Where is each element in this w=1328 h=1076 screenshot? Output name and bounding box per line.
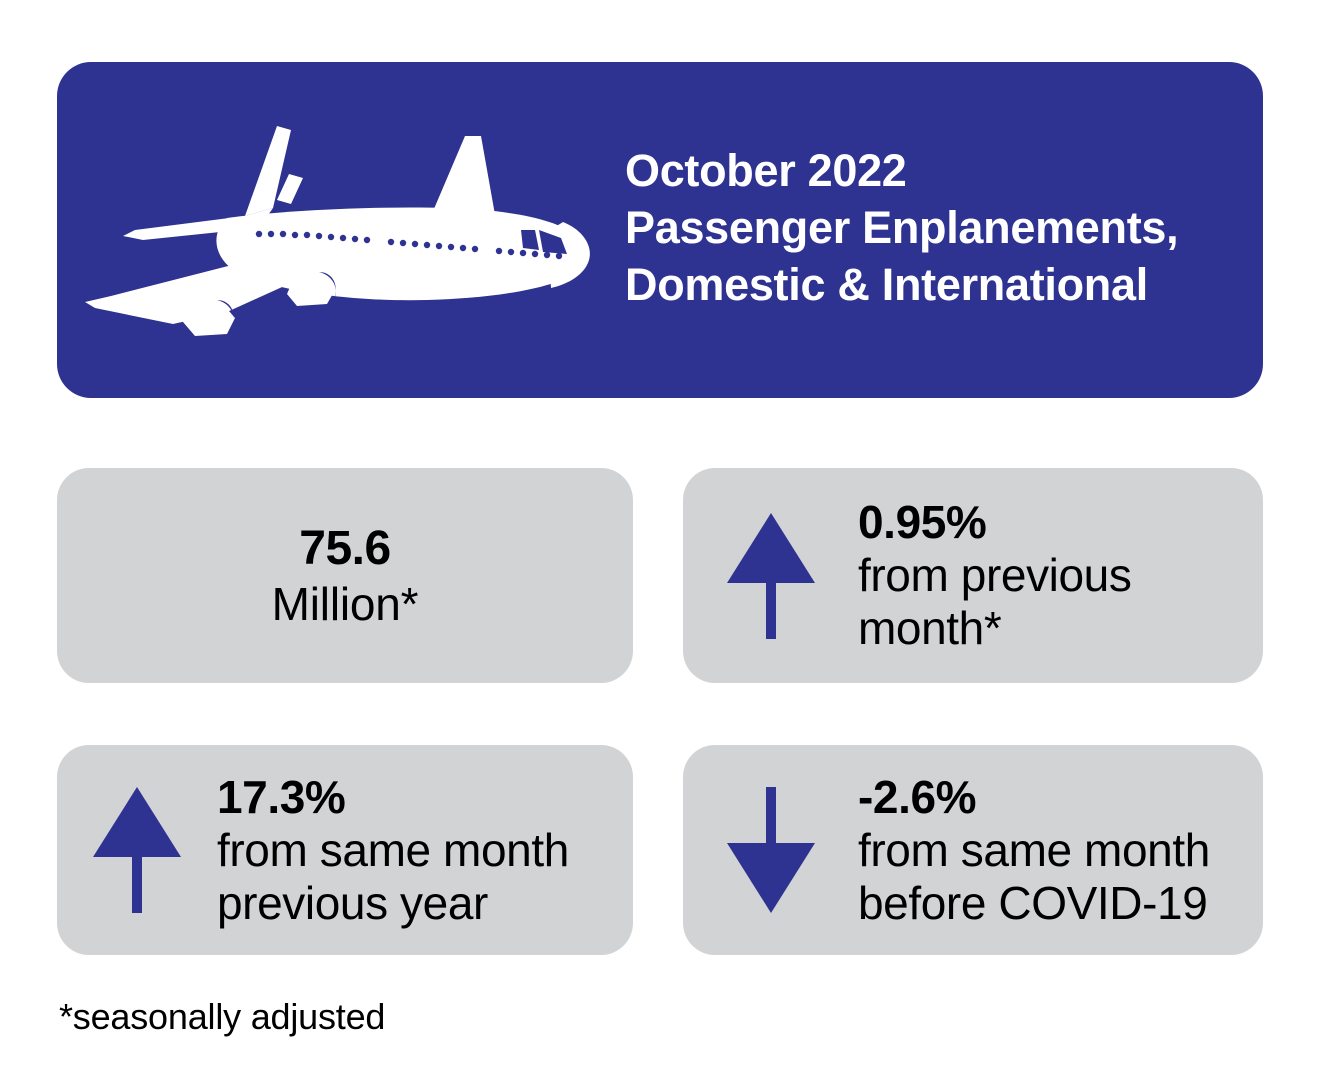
- arrow-up-icon: [57, 785, 217, 915]
- total-enplanements-unit: Million*: [272, 577, 419, 631]
- footnote-seasonally-adjusted: *seasonally adjusted: [59, 995, 385, 1039]
- stat-card-change-previous-year: 17.3% from same month previous year: [57, 745, 633, 955]
- change-pre-covid-description: from same month before COVID-19: [858, 824, 1263, 930]
- stat-card-change-previous-month: 0.95% from previous month*: [683, 468, 1263, 683]
- change-pre-covid-text: -2.6% from same month before COVID-19: [858, 771, 1263, 930]
- change-previous-year-description: from same month previous year: [217, 824, 633, 930]
- stat-card-total-enplanements: 75.6 Million*: [57, 468, 633, 683]
- airplane-icon: [77, 112, 597, 342]
- arrow-up-icon: [683, 511, 858, 641]
- change-previous-year-percent: 17.3%: [217, 771, 633, 824]
- title-line-3: Domestic & International: [625, 256, 1245, 313]
- change-previous-month-percent: 0.95%: [858, 496, 1263, 549]
- arrow-down-icon: [683, 785, 858, 915]
- total-enplanements-value: 75.6: [299, 521, 390, 577]
- change-pre-covid-percent: -2.6%: [858, 771, 1263, 824]
- stat-card-change-pre-covid: -2.6% from same month before COVID-19: [683, 745, 1263, 955]
- page-title: October 2022 Passenger Enplanements, Dom…: [625, 142, 1245, 313]
- change-previous-month-description: from previous month*: [858, 549, 1263, 655]
- change-previous-year-text: 17.3% from same month previous year: [217, 771, 633, 930]
- header-banner: October 2022 Passenger Enplanements, Dom…: [57, 62, 1263, 398]
- change-previous-month-text: 0.95% from previous month*: [858, 496, 1263, 655]
- title-line-1: October 2022: [625, 142, 1245, 199]
- title-line-2: Passenger Enplanements,: [625, 199, 1245, 256]
